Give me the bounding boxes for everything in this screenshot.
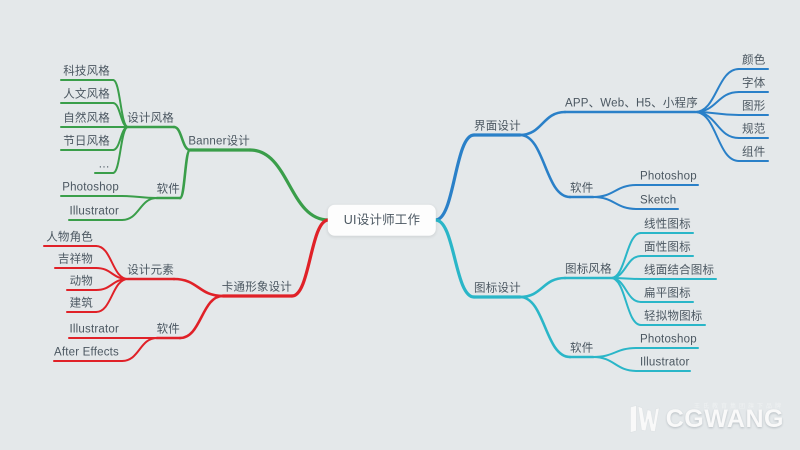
- leaf-label-icon-0-2[interactable]: 线面结合图标: [644, 265, 714, 277]
- leaf-label-banner-0-0[interactable]: 科技风格: [63, 66, 110, 78]
- leaf-label-cartoon-0-0[interactable]: 人物角色: [46, 232, 93, 244]
- subbranch-label-cartoon-0[interactable]: 设计元素: [127, 265, 174, 277]
- branch-label-ui[interactable]: 界面设计: [474, 121, 521, 133]
- leaf-label-banner-0-1[interactable]: 人文风格: [63, 89, 110, 101]
- leaf-label-icon-0-1[interactable]: 面性图标: [644, 242, 691, 254]
- leaf-label-ui-0-3[interactable]: 规范: [742, 124, 765, 136]
- leaf-label-ui-0-1[interactable]: 字体: [742, 78, 765, 90]
- leaf-label-icon-1-0[interactable]: Photoshop: [640, 334, 697, 346]
- leaf-label-icon-0-0[interactable]: 线性图标: [644, 219, 691, 231]
- subbranch-label-icon-0[interactable]: 图标风格: [565, 264, 612, 276]
- leaf-label-cartoon-0-3[interactable]: 建筑: [70, 298, 93, 310]
- subbranch-label-banner-1[interactable]: 软件: [157, 184, 180, 196]
- subbranch-label-ui-1[interactable]: 软件: [570, 183, 593, 195]
- subbranch-label-cartoon-1[interactable]: 软件: [157, 324, 180, 336]
- watermark-text: CGWANG: [666, 407, 784, 432]
- leaf-label-ui-0-2[interactable]: 图形: [742, 101, 765, 113]
- leaf-label-icon-1-1[interactable]: Illustrator: [640, 357, 690, 369]
- leaf-label-banner-1-0[interactable]: Photoshop: [62, 182, 119, 194]
- watermark-subtitle: 王氏教育集团旗下品牌: [694, 401, 784, 410]
- cgwang-mark-icon: [627, 402, 661, 436]
- leaf-label-cartoon-0-2[interactable]: 动物: [70, 276, 93, 288]
- leaf-label-cartoon-1-1[interactable]: After Effects: [54, 347, 119, 359]
- subbranch-label-banner-0[interactable]: 设计风格: [127, 113, 174, 125]
- mindmap-canvas: UI设计师工作Banner设计设计风格科技风格人文风格自然风格节日风格…软件Ph…: [0, 0, 800, 450]
- subbranch-label-ui-0[interactable]: APP、Web、H5、小程序: [565, 98, 698, 110]
- center-node[interactable]: UI设计师工作: [328, 205, 436, 236]
- branch-label-cartoon[interactable]: 卡通形象设计: [222, 282, 292, 294]
- leaf-label-ui-0-4[interactable]: 组件: [742, 147, 765, 159]
- leaf-label-ui-1-1[interactable]: Sketch: [640, 195, 676, 207]
- leaf-label-ui-1-0[interactable]: Photoshop: [640, 171, 697, 183]
- leaf-label-banner-0-2[interactable]: 自然风格: [63, 113, 110, 125]
- leaf-label-banner-0-4[interactable]: …: [98, 159, 110, 171]
- leaf-label-cartoon-0-1[interactable]: 吉祥物: [58, 254, 93, 266]
- leaf-label-icon-0-3[interactable]: 扁平图标: [644, 288, 691, 300]
- leaf-label-banner-0-3[interactable]: 节日风格: [63, 136, 110, 148]
- branch-label-banner[interactable]: Banner设计: [188, 136, 250, 148]
- subbranch-label-icon-1[interactable]: 软件: [570, 343, 593, 355]
- leaf-label-ui-0-0[interactable]: 颜色: [742, 55, 765, 67]
- branch-label-icon[interactable]: 图标设计: [474, 283, 521, 295]
- leaf-label-cartoon-1-0[interactable]: Illustrator: [70, 324, 120, 336]
- leaf-label-icon-0-4[interactable]: 轻拟物图标: [644, 311, 703, 323]
- leaf-label-banner-1-1[interactable]: Illustrator: [70, 206, 120, 218]
